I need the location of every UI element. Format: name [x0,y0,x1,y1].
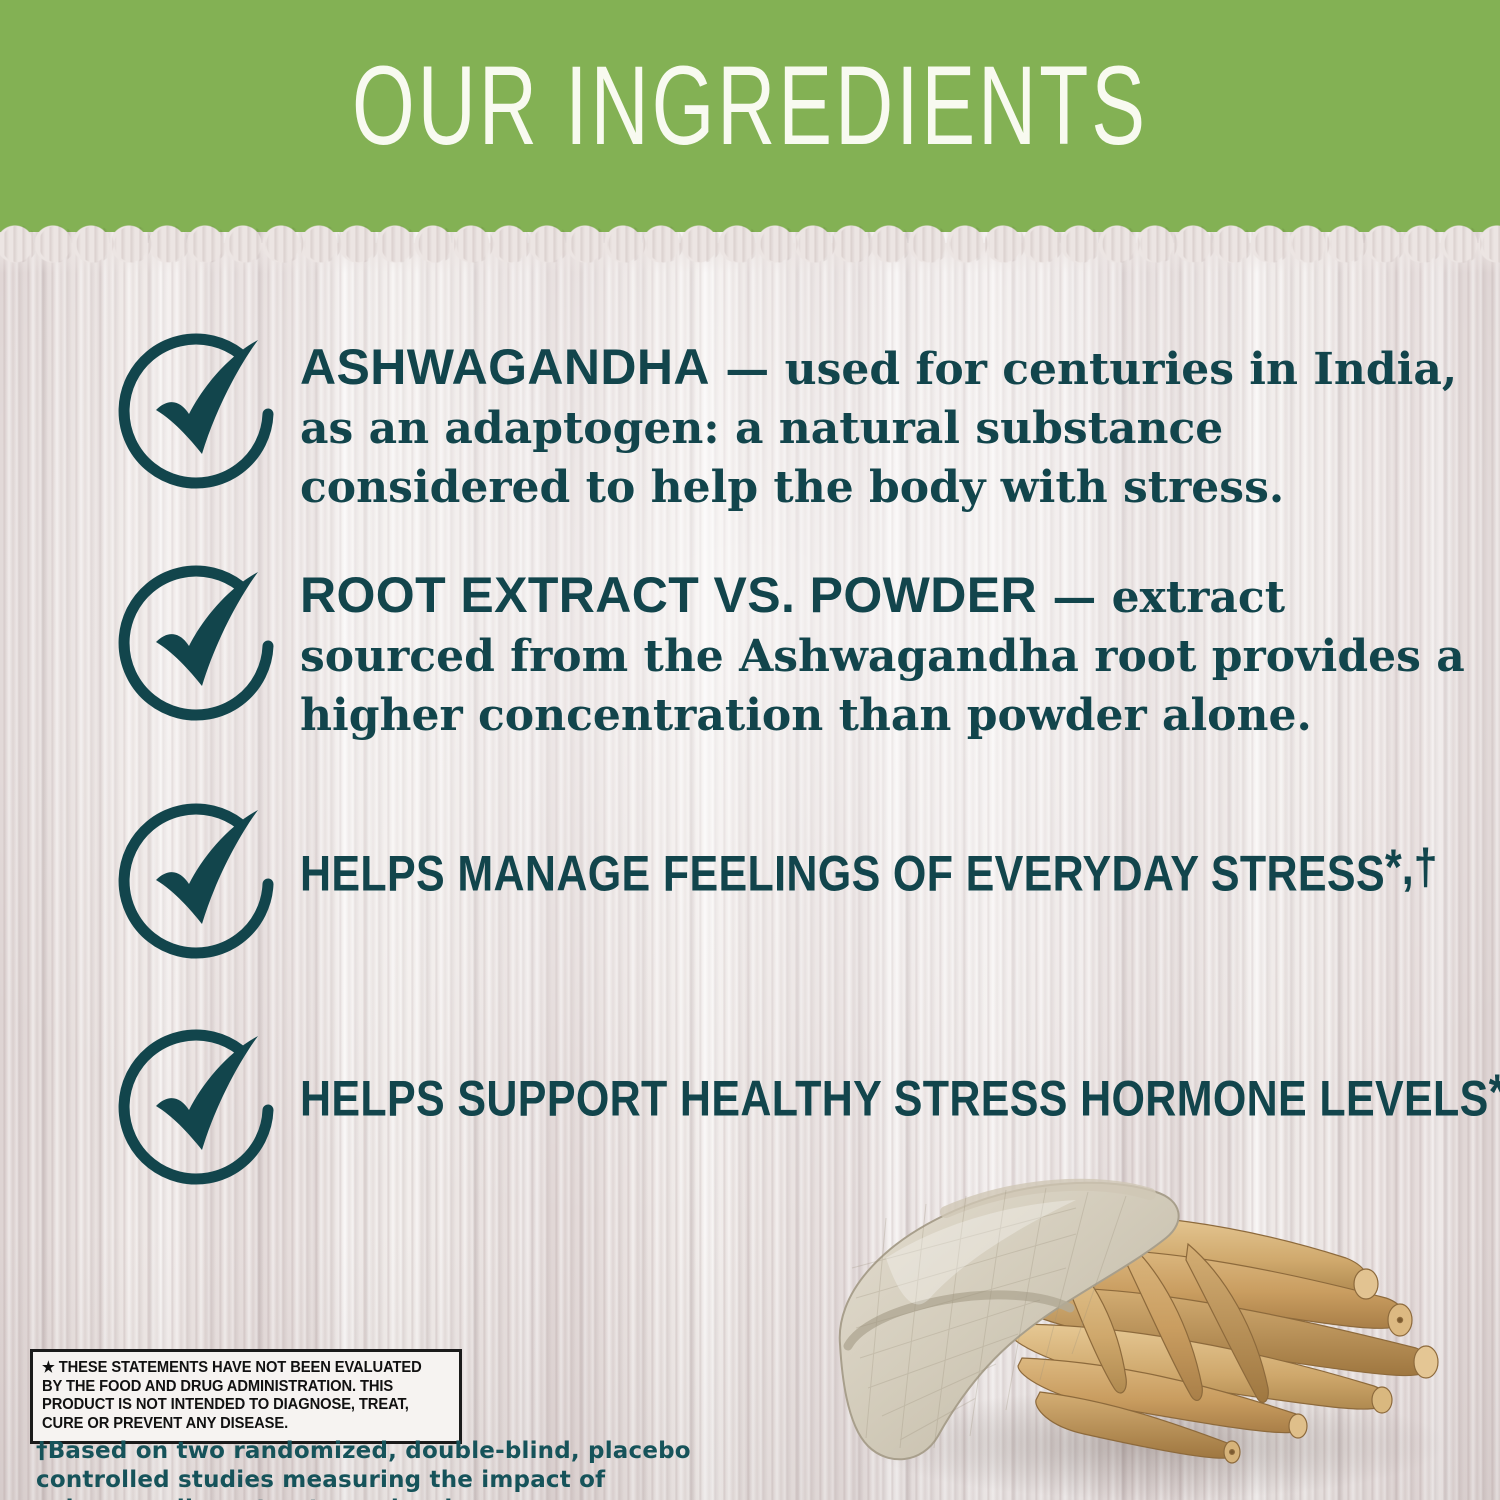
infographic-canvas: OUR INGREDIENTS ASHWAGANDHA — used for c… [0,0,1500,1500]
check-circle-icon [118,800,284,966]
list-item-headline: HELPS SUPPORT HEALTHY STRESS HORMONE LEV… [300,1070,1489,1126]
fda-disclaimer-body: THESE STATEMENTS HAVE NOT BEEN EVALUATED… [42,1359,422,1432]
star-icon: ★ [42,1359,55,1376]
fda-disclaimer-text: ★ THESE STATEMENTS HAVE NOT BEEN EVALUAT… [42,1359,431,1433]
list-item-text: ROOT EXTRACT VS. POWDER — extract source… [300,566,1490,745]
list-item-superscript: *,† [1385,839,1438,895]
list-item-text: HELPS SUPPORT HEALTHY STRESS HORMONE LEV… [300,1063,1500,1127]
check-circle-icon [118,1026,284,1192]
list-item-text: HELPS MANAGE FEELINGS OF EVERYDAY STRESS… [300,838,1480,902]
list-item-text: ASHWAGANDHA — used for centuries in Indi… [300,338,1460,517]
list-item-superscript: *,† [1489,1064,1500,1120]
list-item-headline: ROOT EXTRACT VS. POWDER [300,567,1037,623]
fda-disclaimer-box: ★ THESE STATEMENTS HAVE NOT BEEN EVALUAT… [30,1349,462,1444]
list-item-dash: — [1037,572,1112,623]
study-footnote: †Based on two randomized, double-blind, … [36,1437,756,1500]
ashwagandha-root-sack-image [826,1148,1486,1500]
list-item-headline: ASHWAGANDHA [300,339,710,395]
list-item-dash: — [710,344,785,395]
check-circle-icon [118,562,284,728]
list-item-headline: HELPS MANAGE FEELINGS OF EVERYDAY STRESS [300,845,1385,901]
check-circle-icon [118,330,284,496]
